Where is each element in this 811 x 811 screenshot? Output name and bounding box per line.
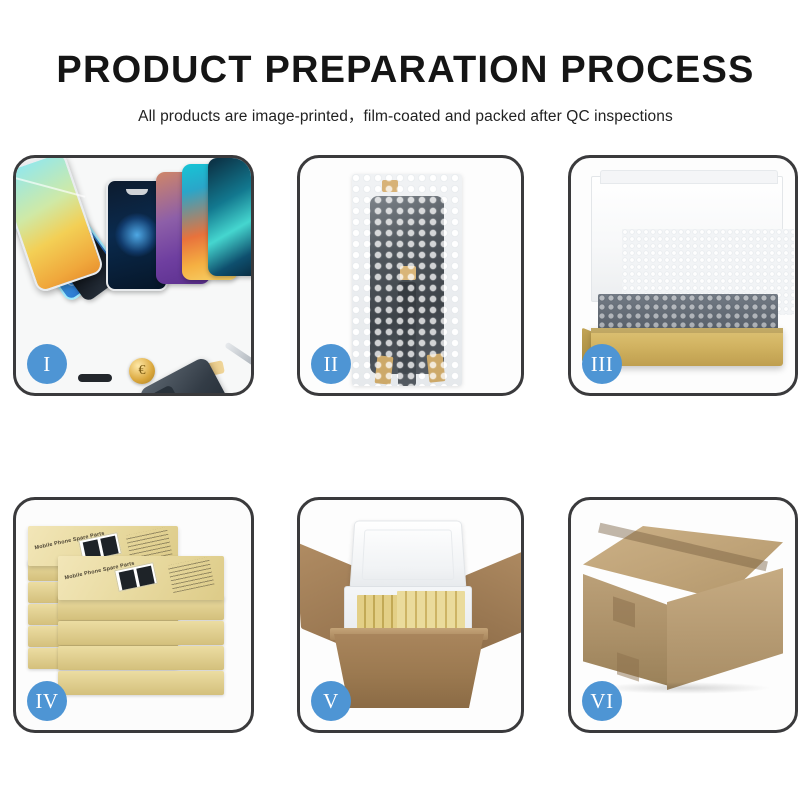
step-panel-1[interactable]: I	[13, 155, 254, 396]
bubble-wrap-bag-icon	[352, 174, 462, 386]
step-panel-4[interactable]: Mobile Phone Spare Parts Mobile Phone Sp…	[13, 497, 254, 733]
step-panel-6[interactable]: VI	[568, 497, 798, 733]
steps-grid: I II	[0, 0, 811, 811]
step-badge-4: IV	[27, 681, 67, 721]
tape-piece-2-icon	[400, 266, 416, 280]
stacked-box-f4	[58, 671, 224, 695]
carton-shadow	[599, 682, 771, 694]
step-badge-1: I	[27, 344, 67, 384]
vibration-motor-icon	[129, 358, 155, 384]
phone-large-gradient-icon	[13, 155, 105, 294]
retail-box-lid-front: Mobile Phone Spare Parts	[58, 556, 224, 600]
stacked-box-f2	[58, 621, 224, 645]
foam-lid-icon	[349, 521, 466, 591]
step-panel-3[interactable]: III	[568, 155, 798, 396]
stacked-box-f3	[58, 646, 224, 670]
phone-screen-teal-icon	[208, 158, 254, 276]
white-box-lid-icon	[591, 176, 783, 302]
tape-piece-1-icon	[382, 180, 398, 192]
tape-piece-4-icon	[427, 353, 446, 383]
hand-icon	[222, 391, 254, 396]
step-badge-6: VI	[582, 681, 622, 721]
flex-cable-strip-icon	[398, 282, 416, 386]
tweezers-icon	[224, 342, 254, 373]
step-badge-3: III	[582, 344, 622, 384]
step-badge-2: II	[311, 344, 351, 384]
step-badge-5: V	[311, 681, 351, 721]
step-panel-5[interactable]: V	[297, 497, 524, 733]
box-spec-text-front	[168, 557, 215, 593]
step-panel-2[interactable]: II	[297, 155, 524, 396]
carton-front-icon	[334, 634, 484, 708]
tape-piece-3-icon	[375, 355, 394, 385]
product-preparation-infographic: PRODUCT PREPARATION PROCESS All products…	[0, 0, 811, 811]
speaker-module-icon	[78, 374, 112, 382]
wrapped-screen-icon	[370, 196, 444, 374]
